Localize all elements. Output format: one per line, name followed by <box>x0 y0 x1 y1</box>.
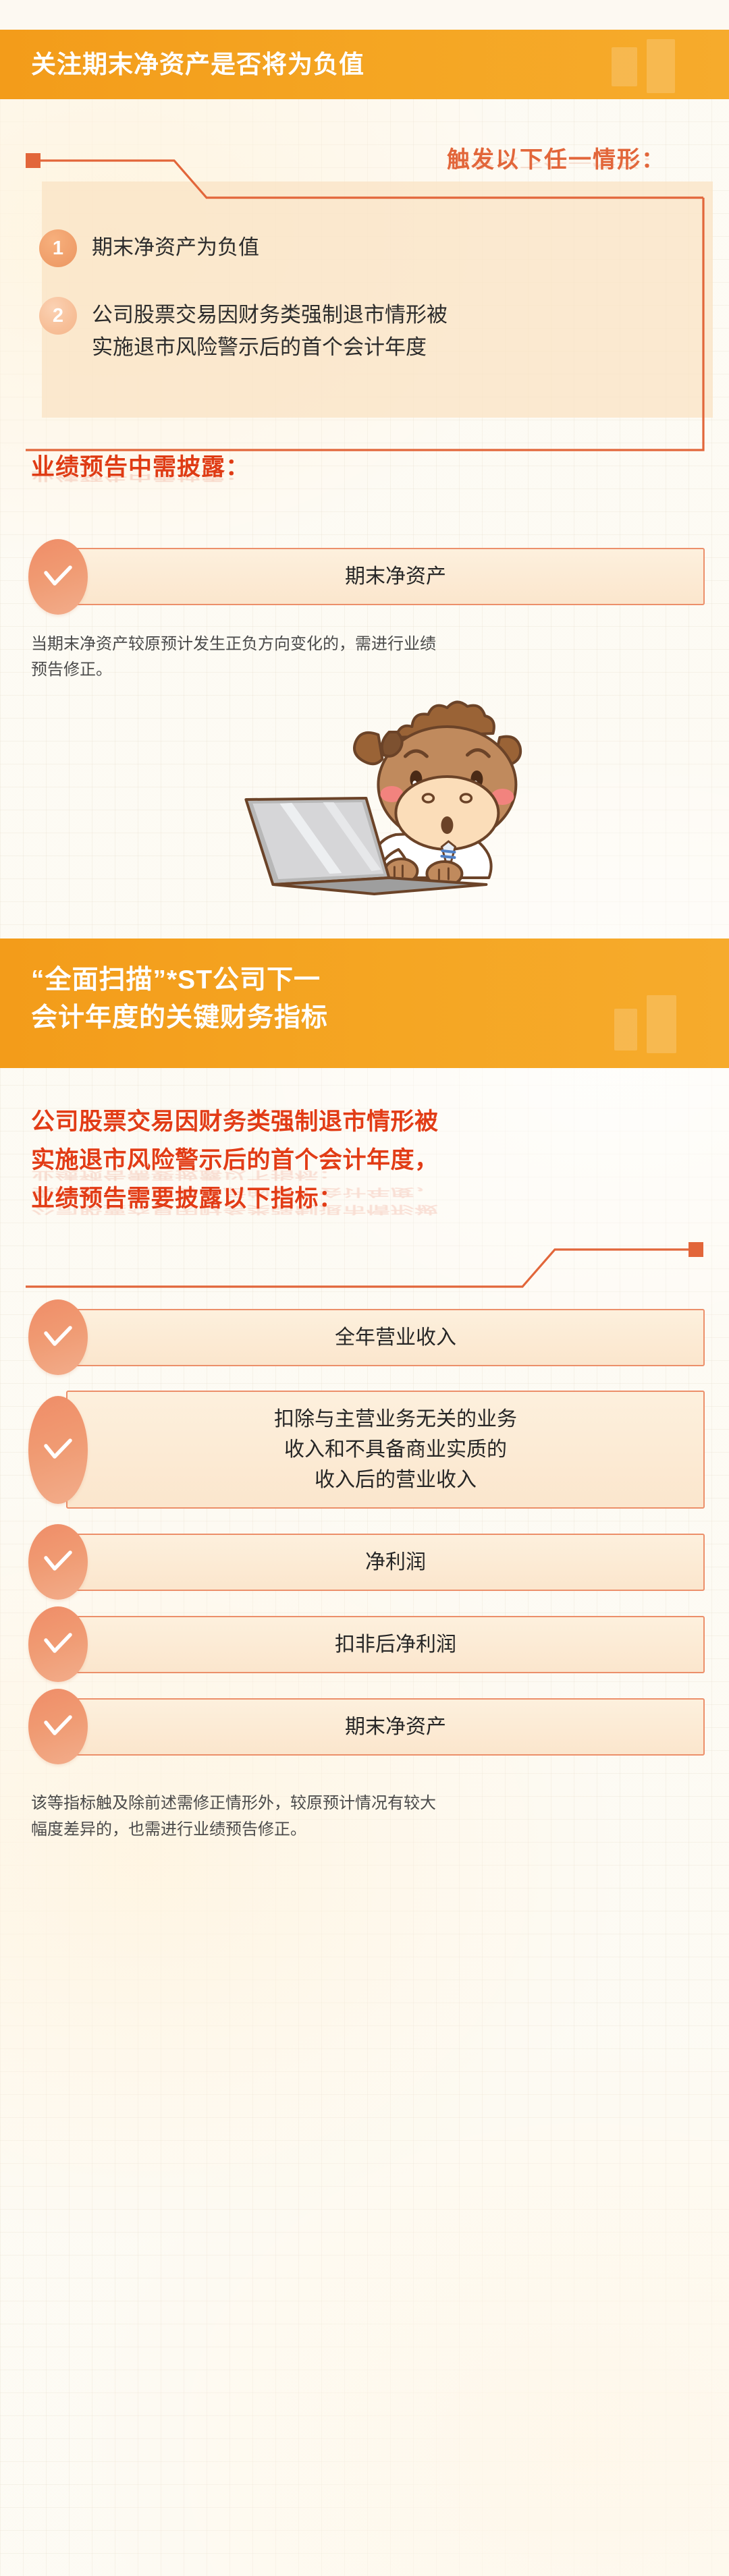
check-icon <box>28 1299 88 1375</box>
indicator-label: 扣非后净利润 <box>335 1629 456 1660</box>
indicator-bracket-icon <box>24 1241 705 1308</box>
section-net-assets: 关注期末净资产是否将为负值 触发以下任一情形： 触发以下任一情形： <box>0 30 729 920</box>
trigger-list: 1 期末净资产为负值 2 公司股票交易因财务类强制退市情形被 实施退市风险警示后… <box>24 174 705 408</box>
check-row: 扣非后净利润 <box>28 1615 705 1673</box>
section-two-banner: “全面扫描”*ST公司下一 会计年度的关键财务指标 <box>0 939 729 1068</box>
check-row: 期末净资产 <box>28 548 705 606</box>
section-two-title: “全面扫描”*ST公司下一 会计年度的关键财务指标 <box>0 939 729 1036</box>
check-row: 净利润 <box>28 1533 705 1591</box>
section-two-footnote: 该等指标触及除前述需修正情形外，较原预计情况有较大 幅度差异的，也需进行业绩预告… <box>31 1791 693 1843</box>
indicator-pill: 净利润 <box>66 1534 705 1591</box>
indicator-label: 全年营业收入 <box>335 1322 456 1353</box>
highlight-paragraph-block: 公司股票交易因财务类强制退市情形被 实施退市风险警示后的首个会计年度， 业绩预告… <box>31 1103 701 1218</box>
section-one-footnote: 当期末净资产较原预计发生正负方向变化的，需进行业绩 预告修正。 <box>31 632 693 684</box>
indicator-pill: 期末净资产 <box>66 1698 705 1756</box>
check-icon <box>28 1524 88 1600</box>
disclose-heading-block: 业绩预告中需披露： 业绩预告中需披露： <box>31 454 729 510</box>
highlight-paragraph: 公司股票交易因财务类强制退市情形被 实施退市风险警示后的首个会计年度， 业绩预告… <box>31 1103 701 1218</box>
trigger-number-badge: 1 <box>39 229 77 267</box>
section-one-title: 关注期末净资产是否将为负值 <box>0 30 729 99</box>
disclose-item-label: 期末净资产 <box>345 561 446 592</box>
check-row: 扣除与主营业务无关的业务 收入和不具备商业实质的 收入后的营业收入 <box>28 1391 705 1509</box>
trigger-bracket-container: 触发以下任一情形： 触发以下任一情形： 1 期末净资产为负值 2 公司股票交易因… <box>24 138 705 408</box>
indicator-list: 全年营业收入 扣除与主营业务无关的业务 收入和不具备商业实质的 收入后的营业收入 <box>28 1308 705 1756</box>
trigger-item: 2 公司股票交易因财务类强制退市情形被 实施退市风险警示后的首个会计年度 <box>39 296 664 364</box>
indicator-bracket-container <box>24 1218 705 1285</box>
cow-with-laptop-illustration <box>0 690 729 920</box>
section-key-indicators: “全面扫描”*ST公司下一 会计年度的关键财务指标 公司股票交易因财务类强制退市… <box>0 939 729 1843</box>
trigger-item-label: 期末净资产为负值 <box>92 228 259 264</box>
indicator-label: 扣除与主营业务无关的业务 收入和不具备商业实质的 收入后的营业收入 <box>274 1404 517 1495</box>
check-icon <box>28 1396 88 1504</box>
indicator-pill: 扣除与主营业务无关的业务 收入和不具备商业实质的 收入后的营业收入 <box>66 1391 705 1509</box>
trigger-item-label: 公司股票交易因财务类强制退市情形被 实施退市风险警示后的首个会计年度 <box>92 296 448 364</box>
check-icon <box>28 1606 88 1682</box>
disclose-heading-reflection: 业绩预告中需披露： <box>31 469 729 482</box>
infographic-page: 关注期末净资产是否将为负值 触发以下任一情形： 触发以下任一情形： <box>0 30 729 1843</box>
indicator-label: 净利润 <box>365 1547 426 1577</box>
indicator-label: 期末净资产 <box>345 1712 446 1742</box>
check-icon <box>28 539 88 615</box>
indicator-pill: 全年营业收入 <box>66 1309 705 1366</box>
section-one-banner: 关注期末净资产是否将为负值 <box>0 30 729 99</box>
trigger-item: 1 期末净资产为负值 <box>39 228 664 267</box>
check-row: 期末净资产 <box>28 1698 705 1756</box>
disclose-item-list: 期末净资产 <box>28 548 705 606</box>
check-row: 全年营业收入 <box>28 1308 705 1366</box>
disclose-item-pill: 期末净资产 <box>66 548 705 605</box>
trigger-number-badge: 2 <box>39 297 77 335</box>
check-icon <box>28 1689 88 1764</box>
indicator-pill: 扣非后净利润 <box>66 1616 705 1673</box>
